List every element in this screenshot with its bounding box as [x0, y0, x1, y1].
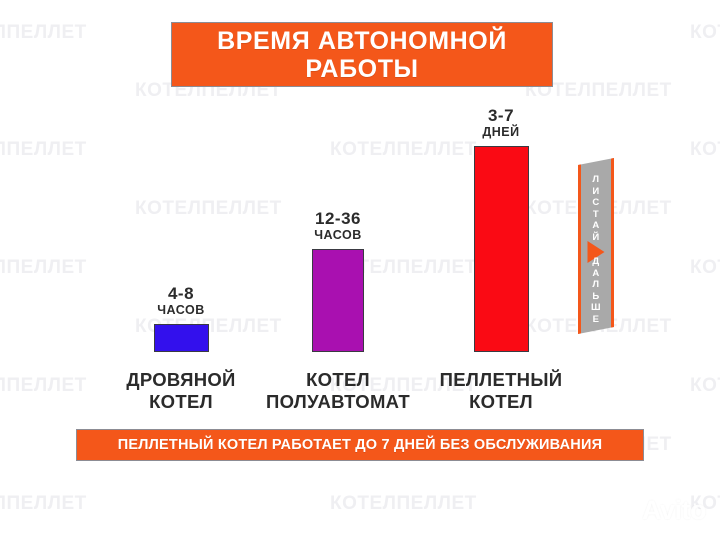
swipe-word-top: ЛИСТАЙ	[578, 174, 614, 243]
avito-watermark: Avito	[612, 497, 706, 524]
bar-caption-line1-3: ПЕЛЛЕТНЫЙ	[440, 369, 563, 390]
bar-caption-line2-1: КОТЕЛ	[149, 391, 213, 412]
bar-value-label-3: 3-7 ДНЕЙ	[406, 107, 596, 139]
bar-value-label-2: 12-36 ЧАСОВ	[243, 210, 433, 242]
swipe-letter: С	[578, 197, 614, 209]
swipe-letter: Т	[578, 209, 614, 221]
bottom-callout-banner: ПЕЛЛЕТНЫЙ КОТЕЛ РАБОТАЕТ ДО 7 ДНЕЙ БЕЗ О…	[76, 429, 644, 461]
swipe-next-banner[interactable]: ЛИСТАЙ ДАЛЬШЕ	[578, 158, 614, 334]
swipe-letter: И	[578, 186, 614, 198]
bar-caption-line2-2: ПОЛУАВТОМАТ	[266, 391, 410, 412]
swipe-letter: Л	[578, 174, 614, 186]
bar-caption-line2-3: КОТЕЛ	[469, 391, 533, 412]
bar-caption-line1-2: КОТЕЛ	[306, 369, 370, 390]
bar-group-pelletny: 3-7 ДНЕЙ ПЕЛЛЕТНЫЙ КОТЕЛ	[406, 0, 596, 420]
bar-value-number-3: 3-7	[406, 107, 596, 125]
bar-value-unit-2: ЧАСОВ	[243, 229, 433, 243]
bar-value-unit-3: ДНЕЙ	[406, 126, 596, 140]
bar-rect-poluavtomat	[312, 249, 364, 352]
bar-caption-pelletny: ПЕЛЛЕТНЫЙ КОТЕЛ	[406, 369, 596, 412]
swipe-letter: А	[578, 220, 614, 232]
swipe-letter: Д	[578, 256, 614, 268]
swipe-word-bottom: ДАЛЬШЕ	[578, 256, 614, 325]
bar-caption-poluavtomat: КОТЕЛ ПОЛУАВТОМАТ	[243, 369, 433, 412]
swipe-letter: Ш	[578, 302, 614, 314]
swipe-letter: Е	[578, 314, 614, 326]
swipe-letter: Л	[578, 279, 614, 291]
bar-group-poluavtomat: 12-36 ЧАСОВ КОТЕЛ ПОЛУАВТОМАТ	[243, 0, 433, 420]
watermark-text: КОТЕЛПЕЛЛЕТ	[330, 493, 477, 515]
bar-value-number-2: 12-36	[243, 210, 433, 228]
avito-logo-icon	[612, 498, 638, 524]
avito-wordmark: Avito	[642, 497, 706, 524]
bar-caption-line1-1: ДРОВЯНОЙ	[126, 369, 235, 390]
swipe-letter: А	[578, 268, 614, 280]
bar-rect-pelletny	[474, 146, 529, 352]
swipe-letter: Ь	[578, 291, 614, 303]
watermark-text: КОТЕЛПЕЛЛЕТ	[0, 493, 87, 515]
infographic-canvas: КОТЕЛПЕЛЛЕТКОТЕЛПЕЛЛЕТКОТЕЛПЕЛЛЕТКОТЕЛПЕ…	[0, 0, 720, 540]
bottom-banner-text: ПЕЛЛЕТНЫЙ КОТЕЛ РАБОТАЕТ ДО 7 ДНЕЙ БЕЗ О…	[118, 437, 602, 453]
bar-rect-drovyanoy	[154, 324, 209, 352]
